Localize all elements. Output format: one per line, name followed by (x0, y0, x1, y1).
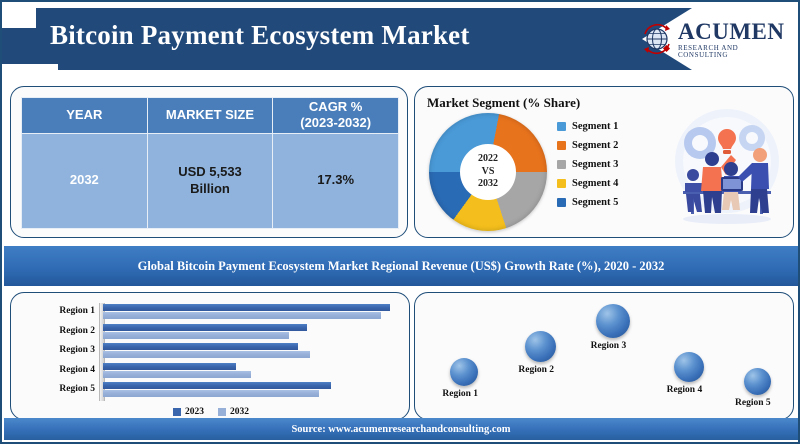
cell-year: 2032 (22, 133, 148, 229)
banner-text: Global Bitcoin Payment Ecosystem Market … (138, 259, 665, 274)
bar-2032-region-2 (103, 332, 289, 339)
bubble-label: Region 1 (442, 389, 478, 399)
bar-category-label: Region 1 (33, 306, 95, 316)
bar-2032-region-3 (103, 351, 310, 358)
legend-item-segment-2: Segment 2 (557, 136, 667, 155)
infographic-page: Bitcoin Payment Ecosystem Market ACUM (0, 0, 800, 444)
donut-chart: 2022 VS 2032 (429, 113, 549, 231)
market-segment-card: Market Segment (% Share) 2022 VS 2032 Se… (414, 86, 794, 238)
legend-swatch-icon (557, 141, 566, 150)
bar-2032-region-5 (103, 390, 319, 397)
col-cagr: CAGR % (2023-2032) (273, 98, 399, 134)
col-cagr-period: (2023-2032) (300, 115, 371, 130)
col-market-size: MARKET SIZE (147, 98, 273, 134)
bar-chart: 20232032 Region 1Region 2Region 3Region … (11, 293, 411, 421)
regional-bar-chart-card: 20232032 Region 1Region 2Region 3Region … (10, 292, 410, 420)
market-size-unit: Billion (190, 181, 230, 196)
cell-cagr: 17.3% (273, 133, 399, 229)
legend-swatch-icon (557, 160, 566, 169)
bubble-region-5 (744, 368, 771, 395)
legend-label: Segment 5 (572, 197, 618, 208)
legend-label: Segment 1 (572, 121, 618, 132)
bar-chart-legend: 20232032 (111, 407, 311, 417)
legend-label: Segment 4 (572, 178, 618, 189)
footer: Source: www.acumenresearchandconsulting.… (4, 418, 798, 440)
donut-center-line3: 2032 (478, 178, 498, 191)
section-banner: Global Bitcoin Payment Ecosystem Market … (4, 246, 798, 286)
bubble-region-2 (525, 331, 556, 362)
bar-legend-item-2032: 2032 (218, 407, 249, 417)
table-header-row: YEAR MARKET SIZE CAGR % (2023-2032) (22, 98, 399, 134)
col-cagr-label: CAGR % (309, 99, 362, 114)
bar-category-label: Region 4 (33, 365, 95, 375)
team-brainstorm-illustration (667, 103, 787, 229)
page-title: Bitcoin Payment Ecosystem Market (50, 20, 470, 51)
bar-2023-region-3 (103, 343, 298, 350)
legend-label: Segment 3 (572, 159, 618, 170)
brand-logo: ACUMEN RESEARCH AND CONSULTING (640, 16, 790, 62)
bar-2032-region-1 (103, 312, 381, 319)
donut-center-line2: VS (482, 166, 495, 179)
bubble-region-4 (674, 352, 704, 382)
legend-label: Segment 2 (572, 140, 618, 151)
ribbon-notch-bottom (2, 64, 58, 80)
bubble-label: Region 4 (667, 385, 703, 395)
bar-2032-region-4 (103, 371, 251, 378)
bar-legend-swatch-icon (218, 408, 226, 416)
source-text: Source: www.acumenresearchandconsulting.… (291, 424, 510, 435)
header: Bitcoin Payment Ecosystem Market ACUM (2, 2, 798, 80)
cell-market-size: USD 5,533 Billion (147, 133, 273, 229)
donut-center-line1: 2022 (478, 153, 498, 166)
globe-icon (640, 22, 674, 56)
bar-legend-swatch-icon (173, 408, 181, 416)
bubble-chart: Region 1Region 2Region 3Region 4Region 5 (415, 293, 795, 421)
legend-item-segment-5: Segment 5 (557, 193, 667, 212)
legend-swatch-icon (557, 179, 566, 188)
bar-2023-region-1 (103, 304, 390, 311)
segment-legend: Segment 1Segment 2Segment 3Segment 4Segm… (557, 117, 667, 212)
regional-bubble-chart-card: Region 1Region 2Region 3Region 4Region 5 (414, 292, 794, 420)
legend-item-segment-3: Segment 3 (557, 155, 667, 174)
bar-legend-label: 2023 (185, 407, 204, 417)
bar-category-label: Region 2 (33, 326, 95, 336)
bar-legend-item-2023: 2023 (173, 407, 204, 417)
legend-swatch-icon (557, 198, 566, 207)
stats-table: YEAR MARKET SIZE CAGR % (2023-2032) 2032… (21, 97, 399, 229)
bubble-label: Region 5 (735, 398, 771, 408)
bar-legend-label: 2032 (230, 407, 249, 417)
logo-tagline: RESEARCH AND CONSULTING (678, 45, 790, 59)
logo-name: ACUMEN (678, 20, 790, 43)
col-year: YEAR (22, 98, 148, 134)
stats-card: YEAR MARKET SIZE CAGR % (2023-2032) 2032… (10, 86, 408, 238)
legend-swatch-icon (557, 122, 566, 131)
donut-center-label: 2022 VS 2032 (460, 144, 516, 200)
bar-2023-region-5 (103, 382, 331, 389)
ribbon-notch-top (2, 2, 36, 28)
bar-category-label: Region 5 (33, 384, 95, 394)
legend-item-segment-1: Segment 1 (557, 117, 667, 136)
bar-category-label: Region 3 (33, 345, 95, 355)
bubble-label: Region 3 (591, 341, 627, 351)
bar-2023-region-2 (103, 324, 307, 331)
segment-title: Market Segment (% Share) (427, 95, 580, 111)
legend-item-segment-4: Segment 4 (557, 174, 667, 193)
bubble-region-1 (450, 358, 478, 386)
bubble-region-3 (596, 304, 630, 338)
table-row: 2032 USD 5,533 Billion 17.3% (22, 133, 399, 229)
bar-2023-region-4 (103, 363, 236, 370)
bubble-label: Region 2 (518, 365, 554, 375)
market-size-value: USD 5,533 (178, 164, 242, 179)
